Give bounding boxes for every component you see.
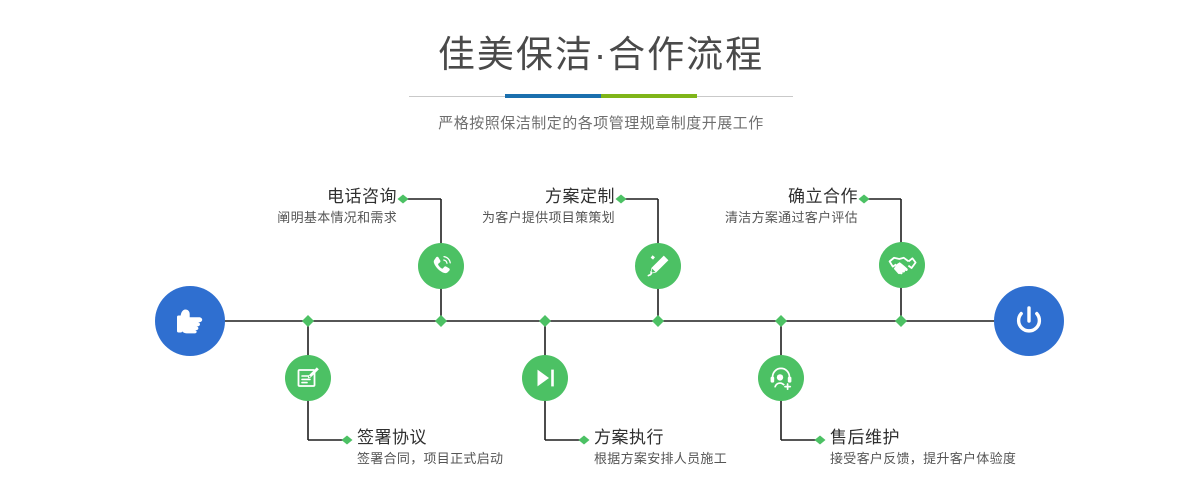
step-desc-3: 为客户提供项目策策划 [431,210,615,227]
diamond-step-6-axis [775,315,787,327]
step-desc-1: 阐明基本情况和需求 [213,210,397,227]
step-title-4: 方案执行 [594,427,727,448]
diamond-step-3-axis [652,315,664,327]
diamond-step-2-label [342,436,353,445]
process-timeline: 电话咨询 阐明基本情况和需求 方案定制 为客户提供项目策策划 确立合作 清洁方案… [0,0,1202,502]
node-icon-step-4[interactable] [522,355,568,401]
step-label-4: 方案执行 根据方案安排人员施工 [594,427,727,468]
play-execute-icon [531,364,559,392]
diamond-step-1-axis [435,315,447,327]
step-label-3: 方案定制 为客户提供项目策策划 [431,186,615,227]
phone-call-icon [427,252,455,280]
step-desc-4: 根据方案安排人员施工 [594,451,727,468]
node-icon-step-1[interactable] [418,243,464,289]
node-icon-step-6[interactable] [758,355,804,401]
node-icon-step-2[interactable] [285,355,331,401]
node-icon-step-3[interactable] [635,243,681,289]
step-title-5: 确立合作 [674,186,858,207]
step-title-2: 签署协议 [357,427,503,448]
pointing-hand-icon [170,301,210,341]
pencil-design-icon [644,252,672,280]
diamond-step-1-label [398,195,409,204]
step-title-1: 电话咨询 [213,186,397,207]
step-label-5: 确立合作 清洁方案通过客户评估 [674,186,858,227]
step-label-1: 电话咨询 阐明基本情况和需求 [213,186,397,227]
step-desc-6: 接受客户反馈，提升客户体验度 [830,451,1016,468]
node-icon-step-5[interactable] [879,242,925,288]
diamond-step-5-axis [895,315,907,327]
timeline-start-endpoint [155,286,225,356]
diamond-step-2-axis [302,315,314,327]
step-label-2: 签署协议 签署合同，项目正式启动 [357,427,503,468]
timeline-end-endpoint [994,286,1064,356]
handshake-icon [887,250,917,280]
step-label-6: 售后维护 接受客户反馈，提升客户体验度 [830,427,1016,468]
step-title-3: 方案定制 [431,186,615,207]
diamond-step-5-label [859,195,870,204]
contract-edit-icon [294,364,322,392]
diamond-step-4-axis [539,315,551,327]
diamond-step-4-label [579,436,590,445]
step-desc-5: 清洁方案通过客户评估 [674,210,858,227]
customer-support-icon [767,364,795,392]
diamond-step-3-label [616,195,627,204]
power-icon [1009,301,1049,341]
step-title-6: 售后维护 [830,427,1016,448]
diamond-step-6-label [815,436,826,445]
step-desc-2: 签署合同，项目正式启动 [357,451,503,468]
